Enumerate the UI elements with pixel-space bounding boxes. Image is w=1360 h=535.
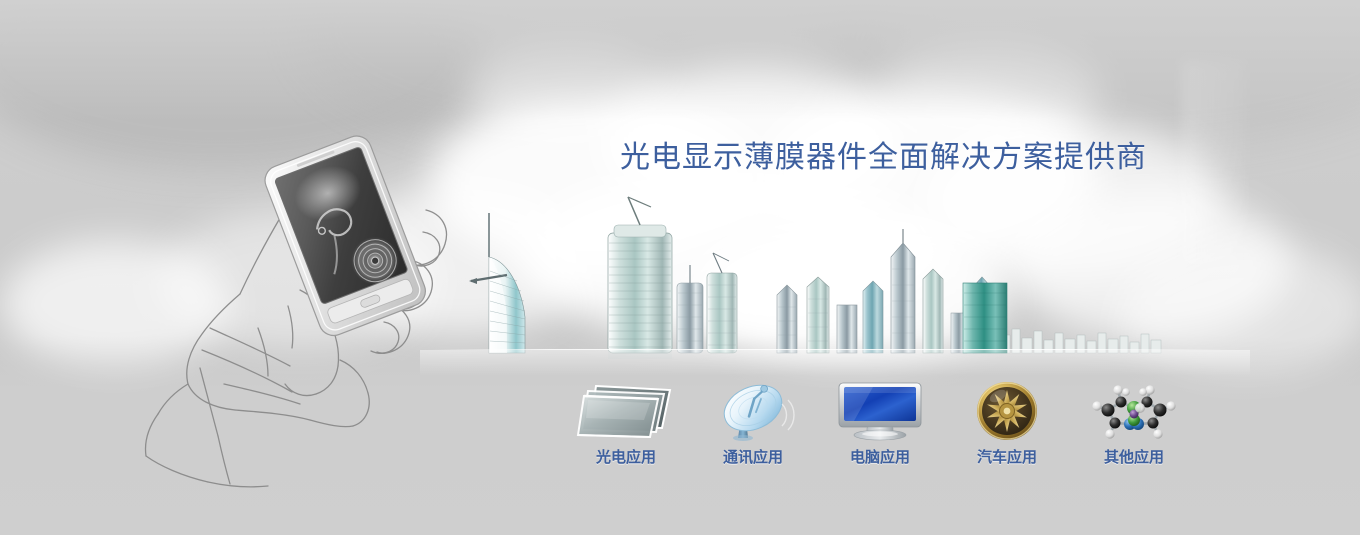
hand-holding-smartphone-sketch — [140, 128, 480, 488]
car-wheel-rim-icon — [970, 380, 1044, 442]
glass-film-panels-icon — [574, 380, 678, 442]
satellite-dish-icon — [708, 380, 798, 442]
application-label: 光电应用 — [596, 448, 656, 466]
background-edge-artifact — [1182, 60, 1247, 265]
application-item-optoelectronic[interactable]: 光电应用 — [565, 380, 687, 466]
application-icons-row: 光电应用 — [565, 356, 1195, 466]
molecule-model-icon — [1088, 380, 1180, 442]
computer-monitor-icon — [833, 380, 927, 442]
application-item-other[interactable]: 其他应用 — [1073, 380, 1195, 466]
application-item-communication[interactable]: 通讯应用 — [692, 380, 814, 466]
application-item-computer[interactable]: 电脑应用 — [819, 380, 941, 466]
city-skyline-skyscrapers — [455, 195, 1175, 355]
hero-banner: 光电显示薄膜器件全面解决方案提供商 — [0, 0, 1360, 535]
application-label: 通讯应用 — [723, 448, 783, 466]
application-item-automotive[interactable]: 汽车应用 — [946, 380, 1068, 466]
application-label: 其他应用 — [1104, 448, 1164, 466]
page-title: 光电显示薄膜器件全面解决方案提供商 — [620, 140, 1140, 176]
application-label: 电脑应用 — [850, 448, 910, 466]
application-label: 汽车应用 — [977, 448, 1037, 466]
